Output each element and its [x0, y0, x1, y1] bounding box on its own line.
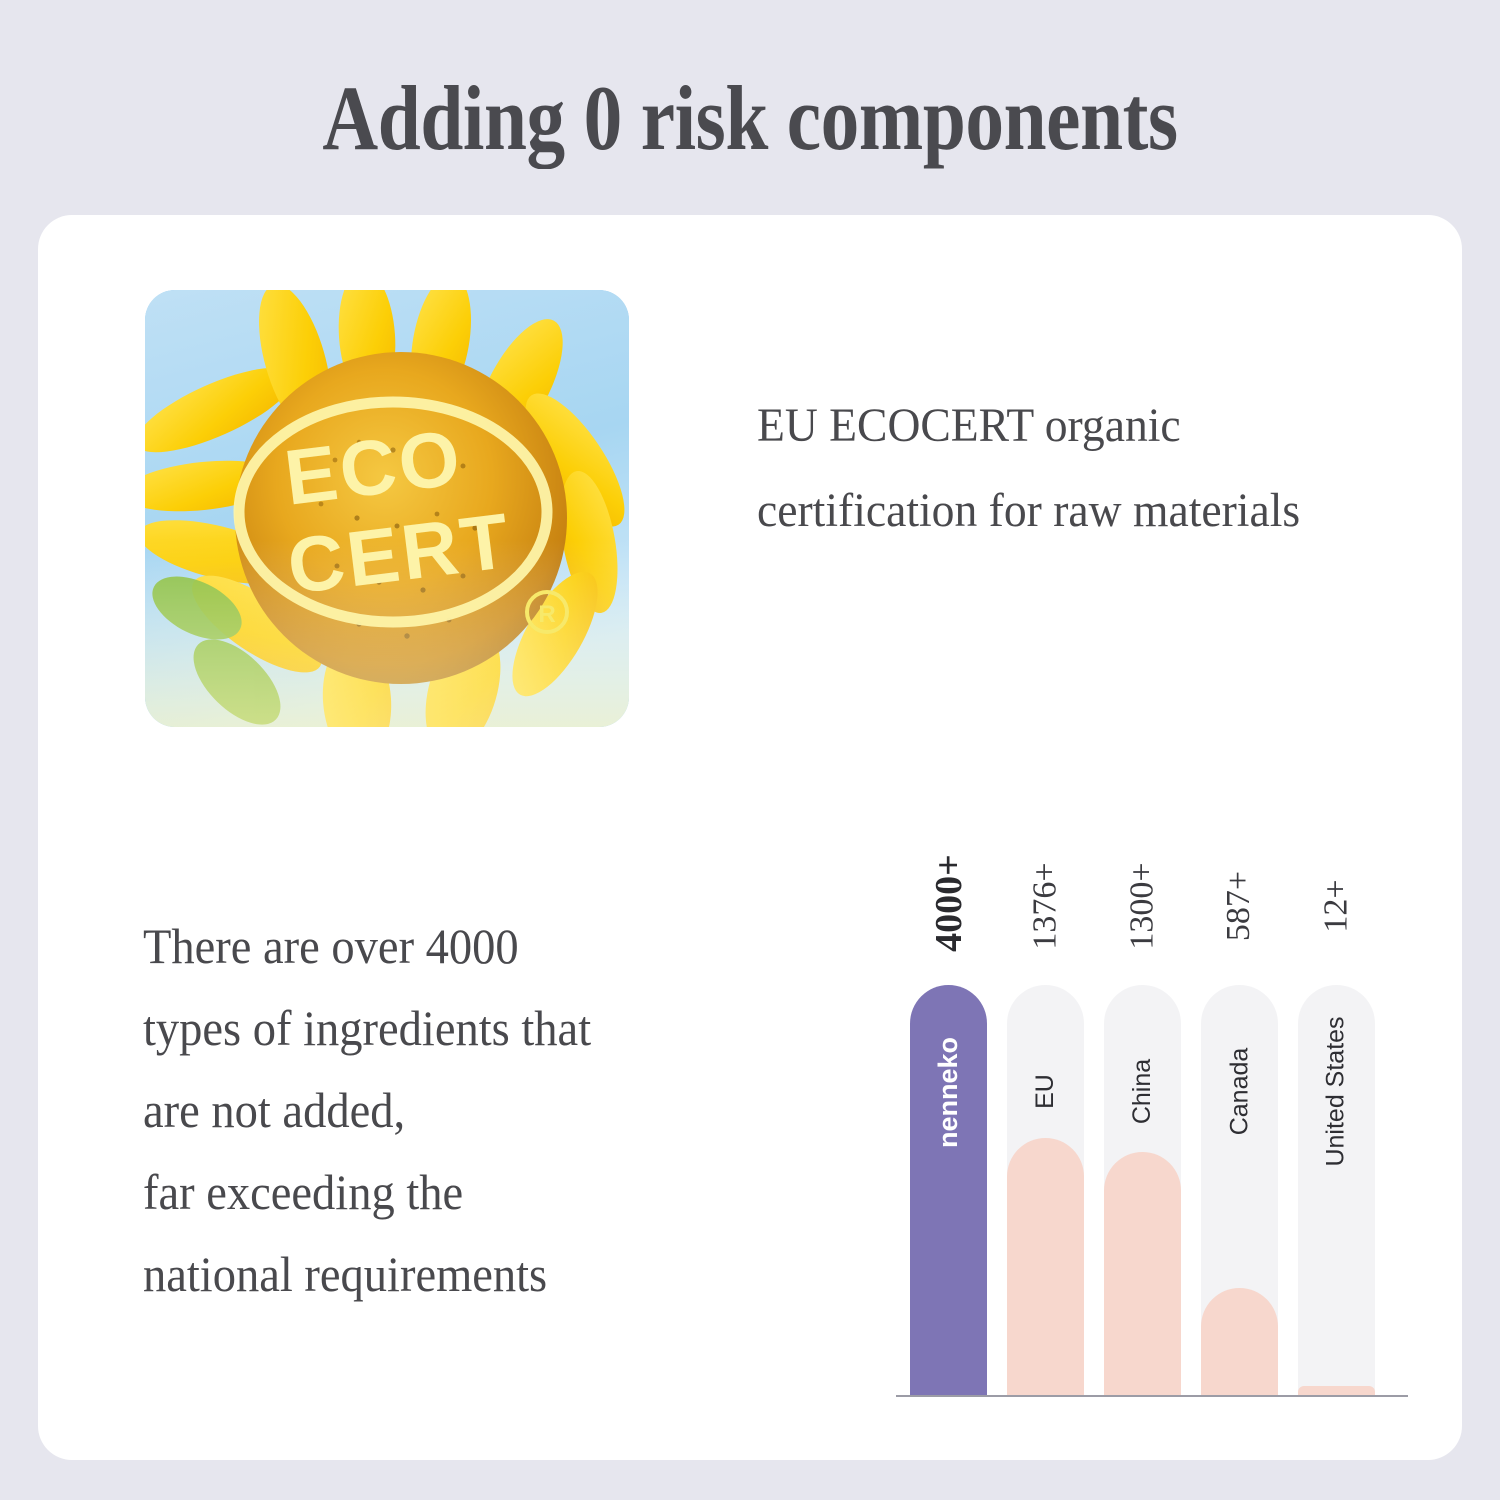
bar-category-label: nenneko — [910, 1007, 987, 1227]
bar-category-label: EU — [1007, 1007, 1084, 1227]
ecocert-section: ECO CERT R EU ECOCERT organic certificat… — [145, 290, 1405, 730]
ecocert-sunflower-image: ECO CERT R — [145, 290, 629, 727]
ecocert-caption: EU ECOCERT organic certification for raw… — [757, 383, 1346, 554]
svg-text:R: R — [538, 601, 555, 628]
bar-value-label: 1300+ — [1104, 843, 1181, 973]
bar-category-label: United States — [1298, 1007, 1375, 1227]
sunflower-illustration: ECO CERT R — [145, 290, 629, 727]
bar-fill — [1201, 1288, 1278, 1395]
bar-track: Canada — [1201, 985, 1278, 1395]
statement-line-5: national requirements — [143, 1233, 775, 1315]
bar-track: China — [1104, 985, 1181, 1395]
statement-text: There are over 4000 types of ingredients… — [143, 905, 775, 1315]
chart-baseline-axis — [896, 1395, 1408, 1397]
bar-value-label: 1376+ — [1007, 843, 1084, 973]
bar-track: United States — [1298, 985, 1375, 1395]
page-title: Adding 0 risk components — [120, 70, 1380, 167]
statement-line-1: There are over 4000 — [143, 905, 775, 987]
bar-track: nenneko — [910, 985, 987, 1395]
bar-track: EU — [1007, 985, 1084, 1395]
bar-value-label: 12+ — [1298, 843, 1375, 973]
statement-line-2: types of ingredients that — [143, 987, 775, 1069]
bar-value-label: 587+ — [1201, 843, 1278, 973]
bar-category-label: Canada — [1201, 1007, 1278, 1227]
content-card: ECO CERT R EU ECOCERT organic certificat… — [38, 215, 1462, 1460]
statement-line-4: far exceeding the — [143, 1151, 775, 1233]
chart-plot-area: 4000+nenneko1376+EU1300+China587+Canada1… — [858, 825, 1388, 1397]
bar-fill — [1298, 1386, 1375, 1395]
statement-line-3: are not added, — [143, 1069, 775, 1151]
ingredient-comparison-chart: 4000+nenneko1376+EU1300+China587+Canada1… — [858, 825, 1388, 1405]
bar-category-label: China — [1104, 1007, 1181, 1227]
bar-value-label: 4000+ — [910, 843, 987, 973]
